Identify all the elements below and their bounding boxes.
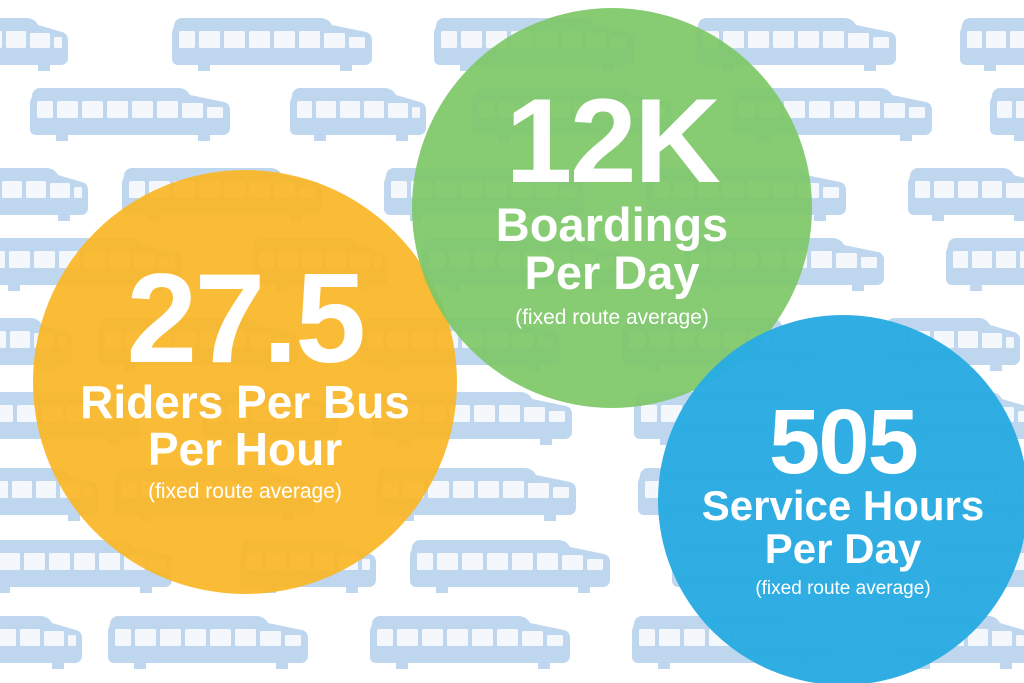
stat-label-boardings-line1: Boardings	[496, 201, 728, 249]
stat-value-service-hours: 505	[769, 400, 917, 485]
infographic-canvas: 27.5 Riders Per Bus Per Hour (fixed rout…	[0, 0, 1024, 683]
stat-value-riders: 27.5	[126, 260, 363, 377]
stat-note-riders: (fixed route average)	[148, 480, 342, 504]
stat-label-service-hours-line1: Service Hours	[702, 485, 984, 528]
stat-circle-service-hours-per-day: 505 Service Hours Per Day (fixed route a…	[658, 315, 1024, 683]
stat-note-boardings: (fixed route average)	[515, 306, 709, 330]
stat-label-boardings-line2: Per Day	[524, 249, 699, 297]
stat-circle-riders-per-bus-per-hour: 27.5 Riders Per Bus Per Hour (fixed rout…	[33, 170, 457, 594]
stat-label-riders-line1: Riders Per Bus	[80, 379, 410, 426]
stat-note-service-hours: (fixed route average)	[755, 578, 930, 600]
stat-label-service-hours-line2: Per Day	[765, 528, 921, 571]
stat-label-riders-line2: Per Hour	[148, 426, 342, 473]
stat-value-boardings: 12K	[506, 86, 719, 196]
